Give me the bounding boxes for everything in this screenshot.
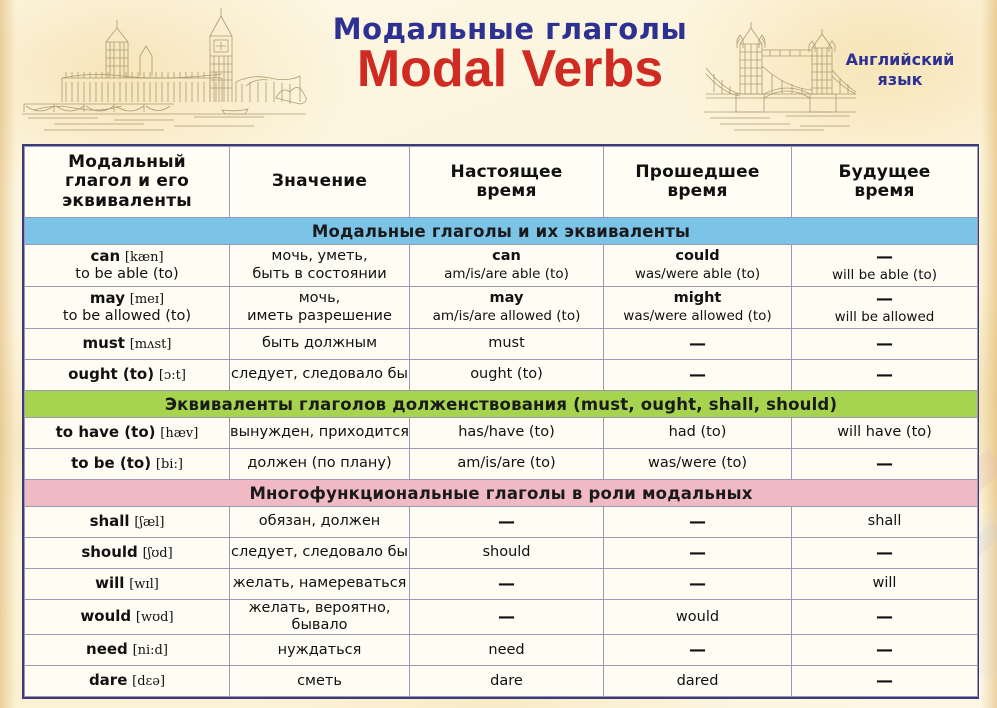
dash-mark: —	[876, 289, 893, 309]
form-text: will be allowed	[835, 309, 935, 325]
form-text: would	[676, 609, 719, 625]
cell-present: ought (to)	[410, 360, 604, 391]
verb-name: to have (to)	[56, 423, 156, 441]
cell-past: would	[604, 600, 792, 635]
cell-present: canam/is/are able (to)	[410, 245, 604, 287]
table-row: to have (to) [hæv]вынужден, приходитсяha…	[25, 418, 978, 449]
section-band-label: Эквиваленты глаголов долженствования (mu…	[25, 391, 978, 418]
verb-transcription: [wʊd]	[136, 610, 174, 625]
cell-present: must	[410, 329, 604, 360]
poster: Модальные глаголы Modal Verbs Английский…	[0, 0, 997, 708]
form-text: must	[488, 335, 525, 351]
table-head: Модальный глагол и его эквиваленты Значе…	[25, 147, 978, 218]
meaning-line: иметь разрешение	[247, 308, 392, 324]
table-header-row: Модальный глагол и его эквиваленты Значе…	[25, 147, 978, 218]
cell-verb: would [wʊd]	[25, 600, 230, 635]
dash-mark: —	[876, 607, 893, 627]
form-text: am/is/are allowed (to)	[433, 308, 581, 324]
dash-mark: —	[689, 334, 706, 354]
meaning-line: вынужден, приходится	[230, 424, 409, 440]
verb-name: ought (to)	[68, 365, 154, 383]
verb-transcription: [meɪ]	[130, 292, 164, 307]
cell-verb: should [ʃʊd]	[25, 538, 230, 569]
cell-meaning: обязан, должен	[230, 507, 410, 538]
verb-transcription: [wɪl]	[129, 577, 159, 592]
verb-name: can	[90, 247, 120, 265]
dash-mark: —	[498, 512, 515, 532]
section-band-label: Многофункциональные глаголы в роли модал…	[25, 480, 978, 507]
cell-past: couldwas/were able (to)	[604, 245, 792, 287]
cell-future: —	[792, 538, 978, 569]
column-header-past: Прошедшее время	[604, 147, 792, 218]
cell-meaning: должен (по плану)	[230, 449, 410, 480]
dash-mark: —	[876, 543, 893, 563]
verb-transcription: [hæv]	[160, 426, 198, 441]
cell-verb: to be (to) [bi:]	[25, 449, 230, 480]
verb-name: to be (to)	[71, 454, 151, 472]
table-row: will [wɪl]желать, намереваться——will	[25, 569, 978, 600]
cell-meaning: мочь,иметь разрешение	[230, 287, 410, 329]
cell-verb: shall [ʃæl]	[25, 507, 230, 538]
right-edge-shade	[981, 0, 997, 708]
verb-name: shall	[90, 512, 130, 530]
title-english: Modal Verbs	[300, 43, 720, 95]
cell-present: has/have (to)	[410, 418, 604, 449]
cell-verb: to have (to) [hæv]	[25, 418, 230, 449]
cell-future: —will be able (to)	[792, 245, 978, 287]
dash-mark: —	[876, 334, 893, 354]
section-band-row: Многофункциональные глаголы в роли модал…	[25, 480, 978, 507]
cell-verb: ought (to) [ɔ:t]	[25, 360, 230, 391]
form-text: was/were able (to)	[635, 266, 760, 282]
poster-title: Модальные глаголы Modal Verbs	[300, 14, 720, 95]
cell-meaning: вынужден, приходится	[230, 418, 410, 449]
form-text: can	[492, 248, 521, 264]
meaning-line: желать, вероятно, бывало	[248, 600, 390, 633]
cell-meaning: следует, следовало бы	[230, 538, 410, 569]
meaning-line: желать, намереваться	[233, 575, 407, 591]
verb-name: should	[81, 543, 137, 561]
verb-equivalent: to be allowed (to)	[63, 308, 191, 324]
cell-meaning: быть должным	[230, 329, 410, 360]
cell-future: —	[792, 329, 978, 360]
form-text: could	[675, 248, 719, 264]
modal-verbs-table-wrapper: Модальный глагол и его эквиваленты Значе…	[22, 144, 979, 699]
dash-mark: —	[876, 365, 893, 385]
table-row: shall [ʃæl]обязан, должен——shall	[25, 507, 978, 538]
verb-transcription: [ɔ:t]	[159, 368, 186, 383]
parliament-big-ben-sketch-icon	[14, 6, 314, 134]
dash-mark: —	[689, 512, 706, 532]
cell-present: —	[410, 600, 604, 635]
cell-meaning: желать, намереваться	[230, 569, 410, 600]
cell-future: —will be allowed	[792, 287, 978, 329]
table-row: to be (to) [bi:]должен (по плану)am/is/a…	[25, 449, 978, 480]
cell-verb: must [mʌst]	[25, 329, 230, 360]
cell-past: had (to)	[604, 418, 792, 449]
meaning-line: мочь,	[299, 290, 341, 306]
dash-mark: —	[498, 607, 515, 627]
meaning-line: быть в состоянии	[252, 266, 386, 282]
cell-future: —	[792, 600, 978, 635]
cell-past: —	[604, 360, 792, 391]
cell-meaning: желать, вероятно, бывало	[230, 600, 410, 635]
cell-verb: may [meɪ]to be allowed (to)	[25, 287, 230, 329]
cell-future: —	[792, 360, 978, 391]
column-header-verb: Модальный глагол и его эквиваленты	[25, 147, 230, 218]
cell-future: —	[792, 449, 978, 480]
dash-mark: —	[689, 574, 706, 594]
verb-name: must	[83, 334, 125, 352]
cell-present: am/is/are (to)	[410, 449, 604, 480]
meaning-line: быть должным	[262, 335, 377, 351]
verb-transcription: [ʃæl]	[134, 515, 164, 530]
form-text: am/is/are (to)	[457, 455, 555, 471]
dash-mark: —	[876, 247, 893, 267]
table-row: can [kæn]to be able (to)мочь, уметь,быть…	[25, 245, 978, 287]
section-band-row: Модальные глаголы и их эквиваленты	[25, 218, 978, 245]
cell-meaning: следует, следовало бы	[230, 360, 410, 391]
cell-past: —	[604, 329, 792, 360]
cell-verb: will [wɪl]	[25, 569, 230, 600]
verb-equivalent: to be able (to)	[75, 266, 178, 282]
form-text: might	[674, 290, 722, 306]
verb-transcription: [bi:]	[156, 457, 183, 472]
dash-mark: —	[689, 543, 706, 563]
cell-verb: can [kæn]to be able (to)	[25, 245, 230, 287]
column-header-future: Будущее время	[792, 147, 978, 218]
dash-mark: —	[689, 365, 706, 385]
table-body: Модальные глаголы и их эквивалентыcan [k…	[25, 218, 978, 697]
form-text: had (to)	[669, 424, 727, 440]
cell-past: mightwas/were allowed (to)	[604, 287, 792, 329]
verb-name: would	[80, 607, 131, 625]
form-text: shall	[868, 513, 902, 529]
form-text: may	[490, 290, 524, 306]
cell-present: mayam/is/are allowed (to)	[410, 287, 604, 329]
meaning-line: следует, следовало бы	[231, 544, 408, 560]
cell-future: shall	[792, 507, 978, 538]
cell-present: —	[410, 507, 604, 538]
form-text: ought (to)	[470, 366, 543, 382]
cell-future: will	[792, 569, 978, 600]
verb-transcription: [kæn]	[125, 250, 164, 265]
form-text: am/is/are able (to)	[444, 266, 569, 282]
verb-transcription: [mʌst]	[130, 337, 172, 352]
form-text: will have (to)	[837, 424, 932, 440]
verb-name: may	[90, 289, 125, 307]
cell-past: was/were (to)	[604, 449, 792, 480]
meaning-line: следует, следовало бы	[231, 366, 408, 382]
subject-label: Английский язык	[825, 50, 975, 90]
meaning-line: обязан, должен	[259, 513, 380, 529]
section-band-row: Эквиваленты глаголов долженствования (mu…	[25, 391, 978, 418]
meaning-line: должен (по плану)	[247, 455, 391, 471]
form-text: was/were allowed (to)	[623, 308, 771, 324]
footer: English ФГОС ЕАС Соответствует ТР ТС 007…	[0, 642, 997, 708]
meaning-line: мочь, уметь,	[271, 248, 367, 264]
table-row: may [meɪ]to be allowed (to)мочь,иметь ра…	[25, 287, 978, 329]
verb-name: will	[95, 574, 124, 592]
cell-present: should	[410, 538, 604, 569]
cell-present: —	[410, 569, 604, 600]
cell-past: —	[604, 538, 792, 569]
table-row: should [ʃʊd]следует, следовало быshould—…	[25, 538, 978, 569]
cell-future: will have (to)	[792, 418, 978, 449]
modal-verbs-table: Модальный глагол и его эквиваленты Значе…	[24, 146, 978, 697]
form-text: will be able (to)	[832, 267, 937, 283]
table-row: ought (to) [ɔ:t]следует, следовало быoug…	[25, 360, 978, 391]
cell-meaning: мочь, уметь,быть в состоянии	[230, 245, 410, 287]
form-text: was/were (to)	[648, 455, 747, 471]
cell-past: —	[604, 569, 792, 600]
form-text: has/have (to)	[458, 424, 555, 440]
column-header-meaning: Значение	[230, 147, 410, 218]
column-header-present: Настоящее время	[410, 147, 604, 218]
form-text: will	[873, 575, 897, 591]
form-text: should	[482, 544, 530, 560]
dash-mark: —	[876, 454, 893, 474]
cell-past: —	[604, 507, 792, 538]
verb-transcription: [ʃʊd]	[143, 546, 173, 561]
table-row: must [mʌst]быть должнымmust——	[25, 329, 978, 360]
table-row: would [wʊd]желать, вероятно, бывало—woul…	[25, 600, 978, 635]
dash-mark: —	[498, 574, 515, 594]
section-band-label: Модальные глаголы и их эквиваленты	[25, 218, 978, 245]
